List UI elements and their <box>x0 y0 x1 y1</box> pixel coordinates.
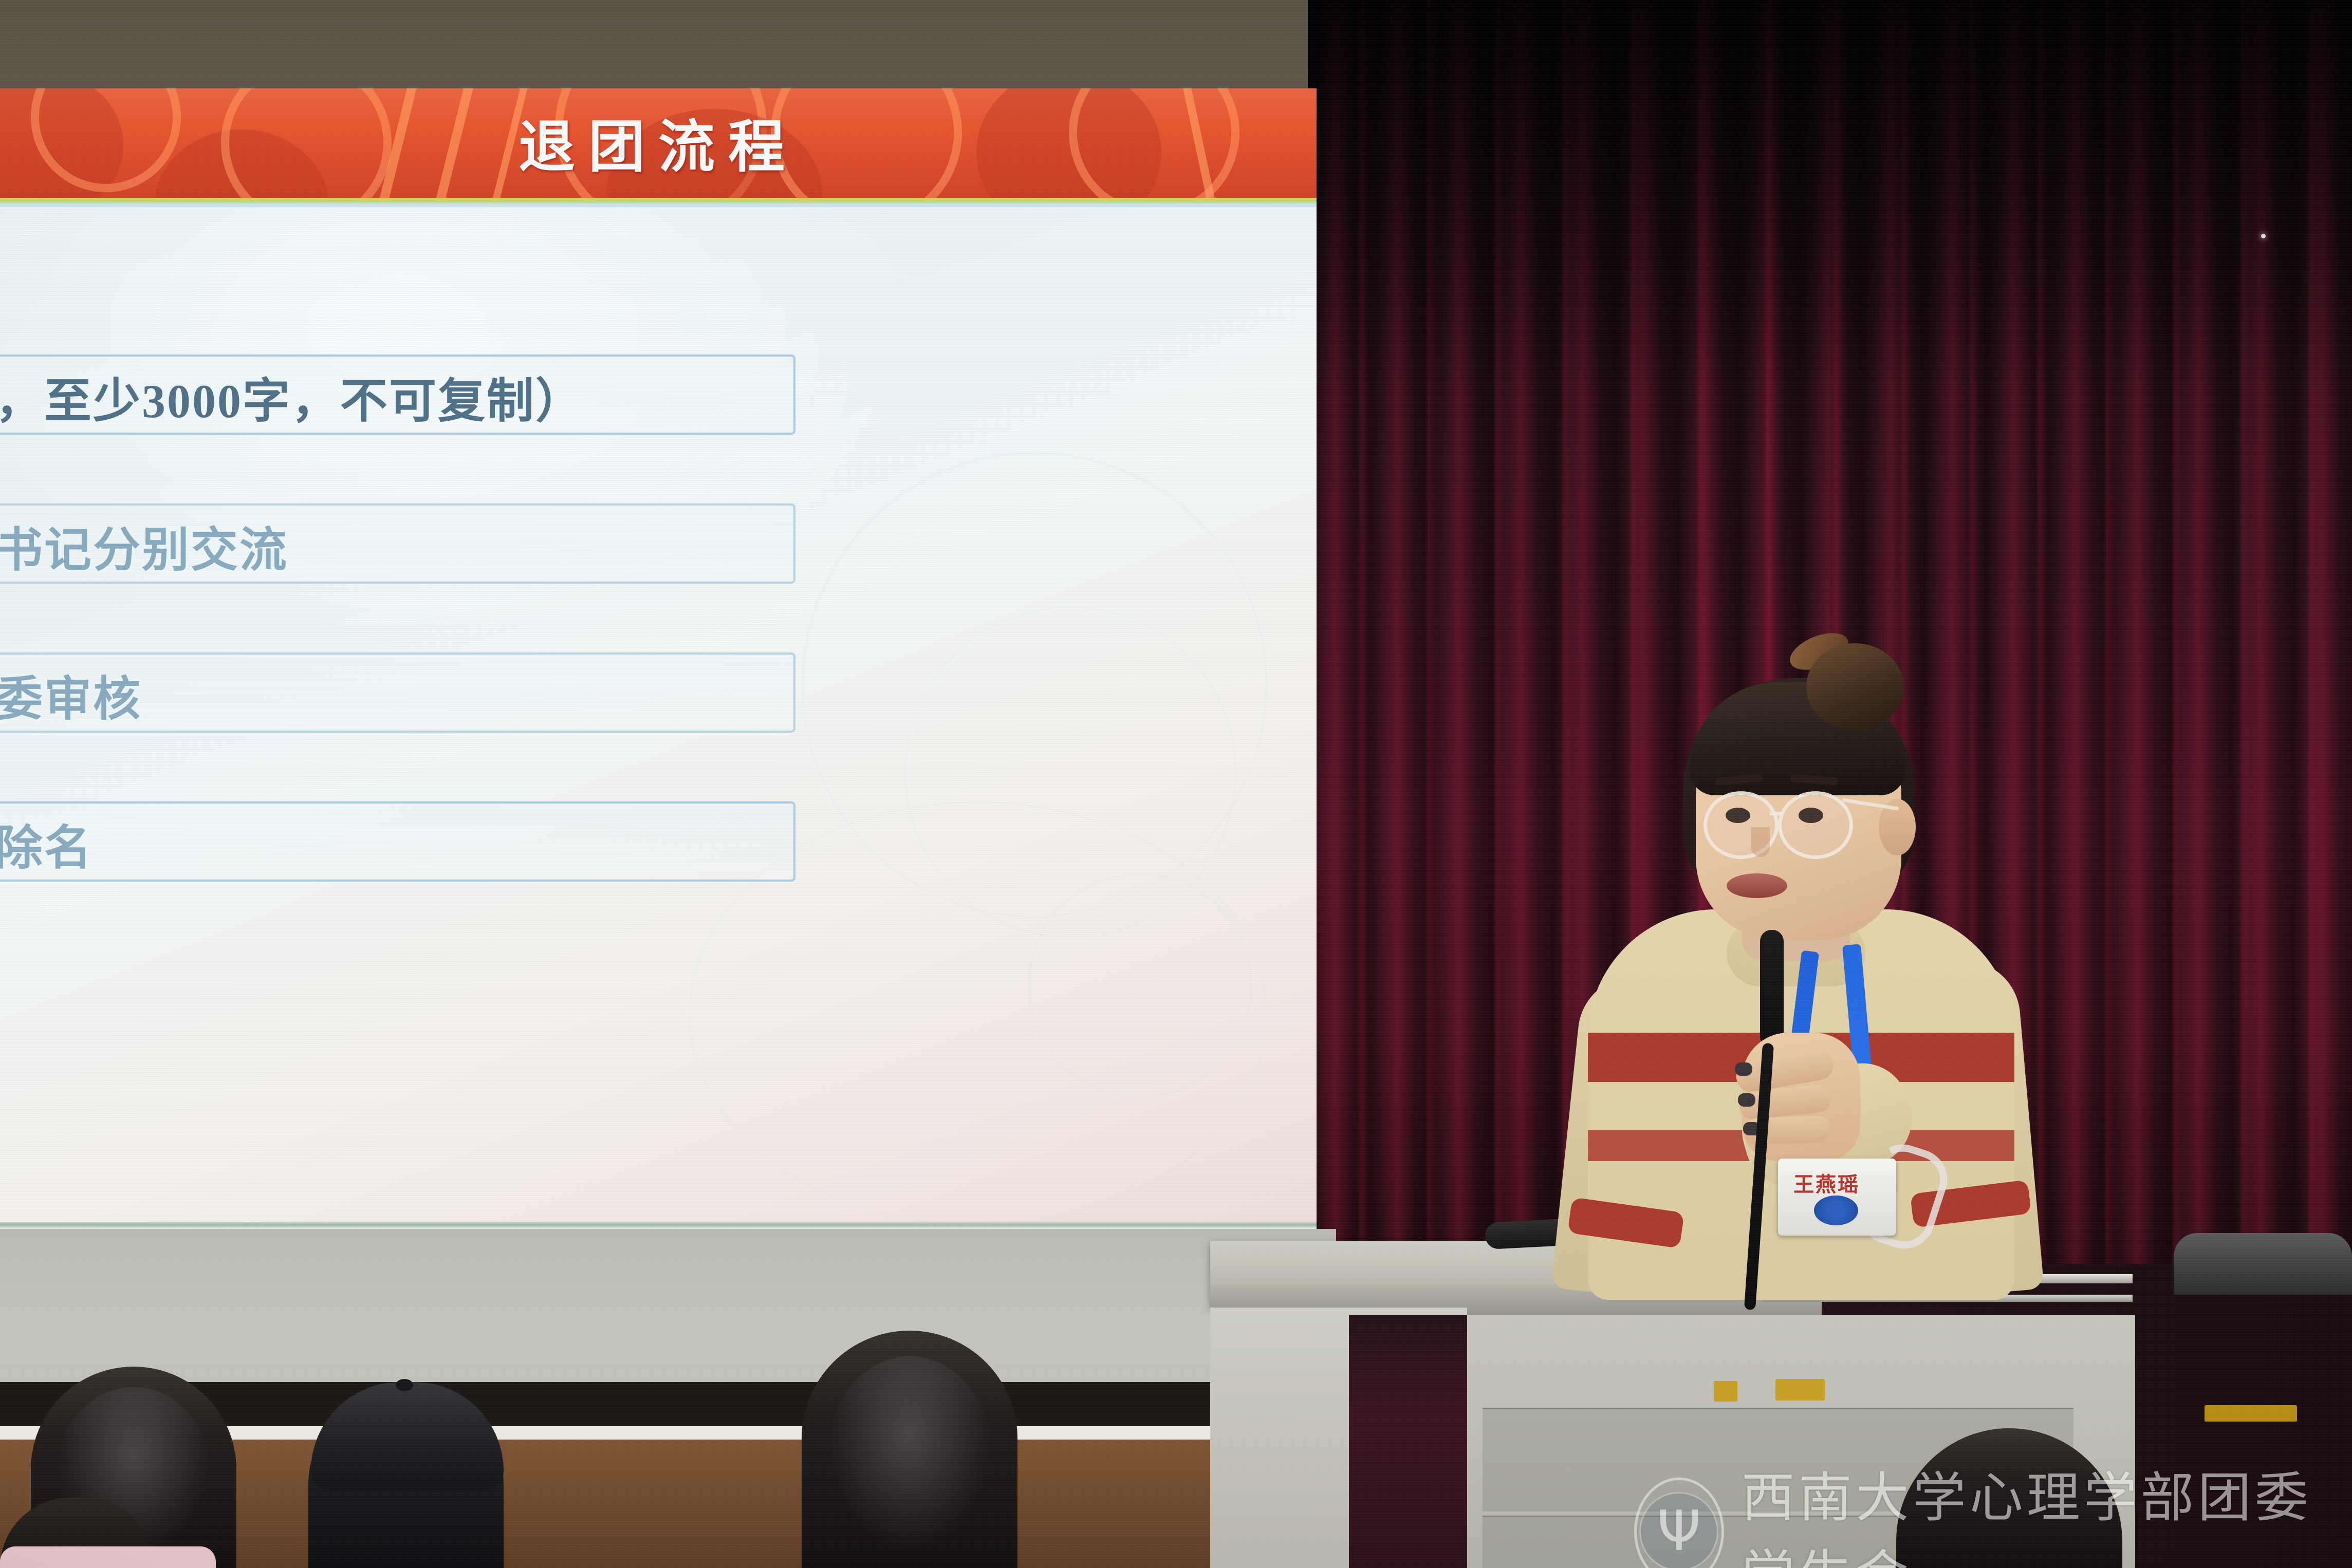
podium-sticker-3 <box>2205 1405 2297 1422</box>
organization-watermark: Ψ Faculty of Psychology 西南大学心理学部团委学生会 <box>1634 1454 2352 1568</box>
speaker-person: 王燕瑶 <box>1572 622 2035 1295</box>
bullet-text: 记和团委副书记分别交流 <box>0 512 288 580</box>
speaker-id-badge: 王燕瑶 <box>1778 1159 1896 1236</box>
lecture-hall-photo: 退团流程 报告（手写，至少3000字，不可复制） 记和团委副书记分别交流 部上报… <box>0 0 2352 1568</box>
fingernail-1 <box>1735 1062 1752 1076</box>
watermark-org-name: 西南大学心理学部团委学生会 <box>1742 1454 2352 1568</box>
eyeglasses-bridge <box>1770 812 1782 815</box>
screen-bottom-edge <box>0 1222 1317 1229</box>
handheld-microphone <box>1760 930 1784 1048</box>
slide-bullet-row: 部支部大会除名 <box>0 801 791 930</box>
audience-shoulder <box>0 1546 216 1568</box>
bullet-text: 部上报校团委审核 <box>0 661 142 729</box>
podium-sticker-1 <box>1714 1381 1737 1402</box>
slide-band-accent-line <box>0 198 1317 203</box>
speaker-nose <box>1751 827 1770 857</box>
curtain-top-shadow <box>1308 0 2352 390</box>
badge-logo <box>1814 1196 1858 1225</box>
slide-bullet-row: 记和团委副书记分别交流 <box>0 503 791 632</box>
podium-gap-shadow <box>1349 1315 1470 1568</box>
slide-title: 退团流程 <box>0 101 1317 183</box>
badge-name-text: 王燕瑶 <box>1793 1168 1860 1198</box>
slide-bullet-row: 部上报校团委审核 <box>0 652 791 781</box>
faculty-logo-inner: Ψ <box>1639 1492 1718 1568</box>
stage-light-dot <box>2261 234 2266 238</box>
speaker-mouth <box>1727 873 1787 898</box>
slide-bullet-list: 报告（手写，至少3000字，不可复制） 记和团委副书记分别交流 部上报校团委审核… <box>0 354 791 950</box>
bullet-text: 部支部大会除名 <box>0 810 93 878</box>
bullet-box <box>0 801 795 882</box>
slide-swirl-4 <box>1028 873 1252 1097</box>
chair-back <box>2174 1233 2352 1295</box>
cap-button <box>396 1379 413 1391</box>
psi-icon: Ψ <box>1657 1504 1701 1559</box>
slide-band-accent-line-2 <box>0 203 1317 207</box>
slide-bullet-row: 报告（手写，至少3000字，不可复制） <box>0 354 791 483</box>
projection-screen: 退团流程 报告（手写，至少3000字，不可复制） 记和团委副书记分别交流 部上报… <box>0 0 1317 1233</box>
bullet-text: 报告（手写，至少3000字，不可复制） <box>0 363 584 431</box>
podium-sticker-2 <box>1775 1379 1825 1401</box>
speaker-hair-bun <box>1806 643 1904 731</box>
fingernail-2 <box>1738 1093 1755 1107</box>
audience-hair-shine <box>827 1356 992 1552</box>
faculty-logo: Ψ Faculty of Psychology <box>1634 1478 1724 1568</box>
